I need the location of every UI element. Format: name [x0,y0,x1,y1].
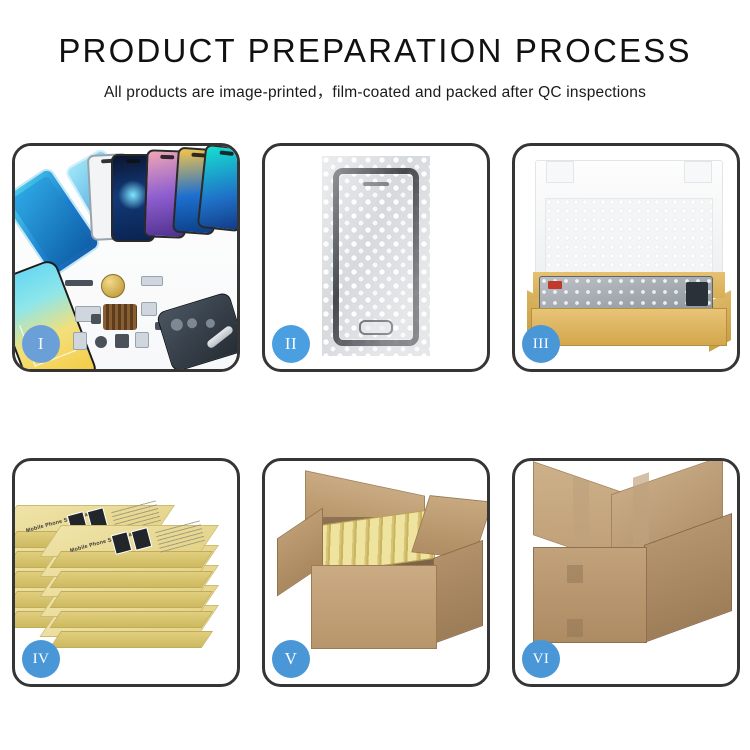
process-step-panel-6: VI [512,458,740,687]
process-step-panel-3: III [512,143,740,372]
step-badge-1: I [22,325,60,363]
page-header: PRODUCT PREPARATION PROCESS All products… [0,0,750,102]
step-badge-6: VI [522,640,560,678]
page-title: PRODUCT PREPARATION PROCESS [0,34,750,67]
process-step-panel-2: II [262,143,490,372]
step-badge-5: V [272,640,310,678]
process-step-panel-5: V [262,458,490,687]
process-step-panel-1: I [12,143,240,372]
process-step-panel-4: Mobile Phone Spare Parts Mobile Phone Sp… [12,458,240,687]
step-badge-3: III [522,325,560,363]
process-steps-grid: I II [12,143,740,687]
step-badge-4: IV [22,640,60,678]
step-badge-2: II [272,325,310,363]
page-subtitle: All products are image-printed，film-coat… [0,80,750,102]
